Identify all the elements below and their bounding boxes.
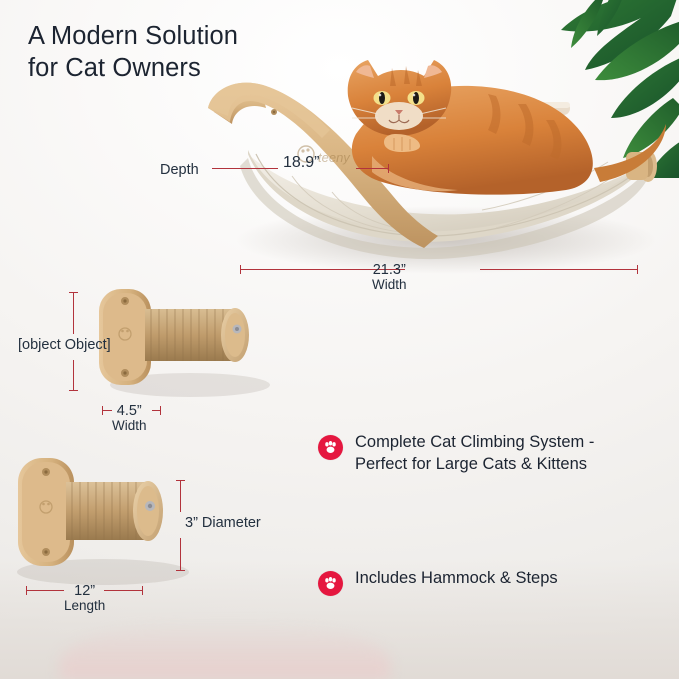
width-measure-line-2 bbox=[480, 269, 637, 270]
step-width-block: 4.5” Width bbox=[112, 403, 147, 433]
length-value: 12” bbox=[74, 583, 95, 599]
feature-bullet-2-text: Includes Hammock & Steps bbox=[355, 568, 558, 590]
paw-icon bbox=[318, 571, 343, 596]
width-measure-label: Width bbox=[372, 277, 407, 292]
depth-measure-line bbox=[212, 168, 278, 169]
feature-bullet-1: Complete Cat Climbing System - Perfect f… bbox=[318, 432, 594, 476]
depth-measure-cap-right bbox=[388, 164, 389, 173]
depth-measure-label: Depth bbox=[160, 162, 199, 178]
depth-measure-value: 18.9” bbox=[283, 154, 319, 172]
cat-hammock-product: teeny bbox=[196, 50, 666, 280]
width-measure-value: 21.3” Width bbox=[372, 262, 407, 292]
product-image-canvas: A Modern Solution for Cat Owners bbox=[0, 0, 679, 679]
step-width-label: Width bbox=[112, 418, 147, 433]
length-cap-right bbox=[142, 586, 143, 595]
step-width-line-2 bbox=[152, 410, 160, 411]
step-height-cap-bottom bbox=[69, 390, 78, 391]
cat-step-perch-lower bbox=[8, 450, 198, 590]
feature-bullet-1-text: Complete Cat Climbing System - Perfect f… bbox=[355, 432, 594, 476]
step-width-line bbox=[102, 410, 112, 411]
length-label: Length bbox=[64, 598, 105, 613]
diameter-line-bottom bbox=[180, 538, 181, 570]
feature-bullet-2: Includes Hammock & Steps bbox=[318, 568, 558, 596]
step-width-value: 4.5” bbox=[117, 403, 142, 419]
step-width-cap-right bbox=[160, 406, 161, 415]
width-measure-cap-right bbox=[637, 265, 638, 274]
length-block: 12” Length bbox=[64, 583, 105, 613]
paw-icon bbox=[318, 435, 343, 460]
svg-text:teeny: teeny bbox=[318, 150, 351, 165]
cat bbox=[348, 60, 666, 195]
diameter-label: 3” Diameter bbox=[185, 515, 261, 531]
depth-measure-line-2 bbox=[356, 168, 388, 169]
step-height-line-bottom bbox=[73, 360, 74, 390]
diameter-line-top bbox=[180, 480, 181, 512]
step-height-line-top bbox=[73, 292, 74, 334]
length-line bbox=[26, 590, 64, 591]
diameter-cap-bottom bbox=[176, 570, 185, 571]
cat-step-perch-upper bbox=[85, 285, 285, 395]
length-line-2 bbox=[104, 590, 142, 591]
width-measure-value-text: 21.3” bbox=[373, 262, 406, 278]
step-height-label: [object Object] bbox=[18, 337, 111, 353]
